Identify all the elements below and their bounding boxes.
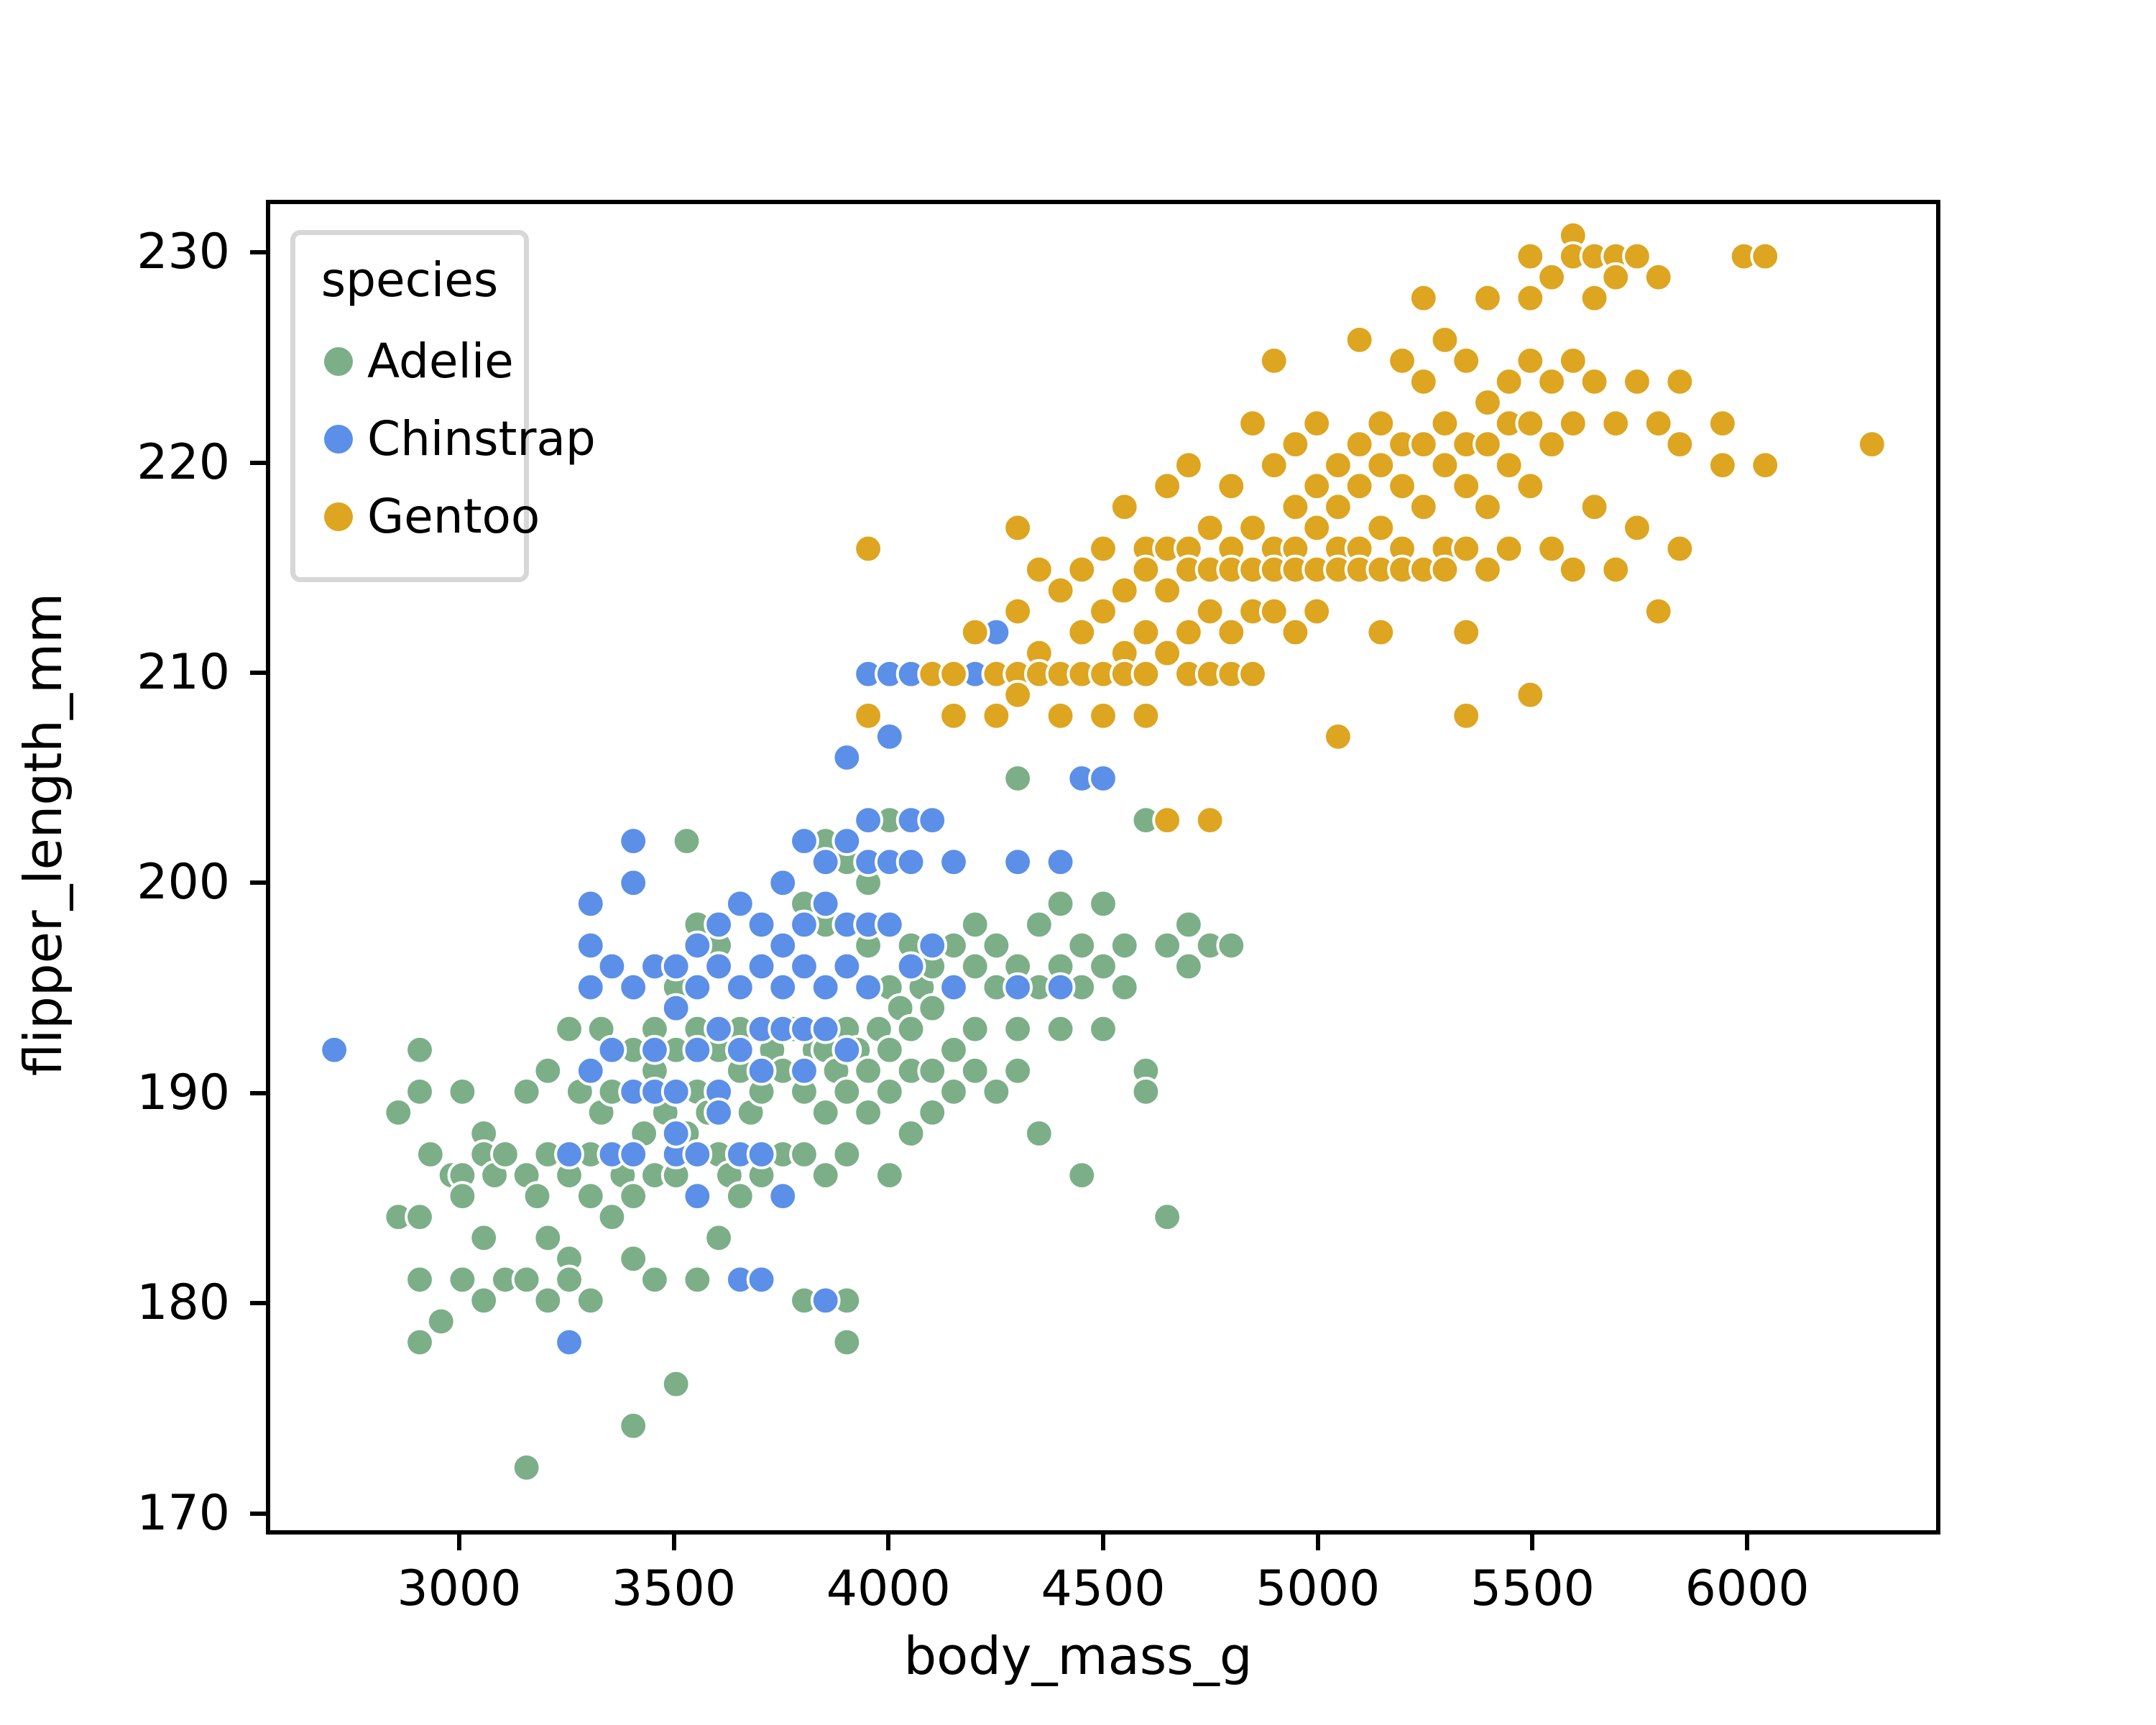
x-tick-label: 6000 bbox=[1685, 1565, 1810, 1614]
y-tick-mark bbox=[250, 671, 266, 675]
legend-label-gentoo: Gentoo bbox=[353, 493, 540, 540]
y-tick-mark bbox=[250, 880, 266, 885]
x-tick-mark bbox=[1745, 1535, 1749, 1550]
legend-item-adelie[interactable]: Adelie bbox=[314, 323, 505, 400]
x-tick-mark bbox=[1530, 1535, 1534, 1550]
y-tick-mark bbox=[250, 1512, 266, 1516]
legend-swatch-adelie bbox=[324, 347, 353, 376]
x-axis-label: body_mass_g bbox=[0, 1630, 2156, 1682]
x-tick-mark bbox=[1316, 1535, 1320, 1550]
legend-title: species bbox=[314, 257, 505, 304]
legend-label-chinstrap: Chinstrap bbox=[353, 415, 596, 463]
x-tick-label: 3500 bbox=[612, 1565, 736, 1614]
y-tick-mark bbox=[250, 1301, 266, 1305]
x-tick-label: 4000 bbox=[826, 1565, 951, 1614]
legend-item-chinstrap[interactable]: Chinstrap bbox=[314, 400, 505, 478]
x-tick-mark bbox=[1101, 1535, 1105, 1550]
y-tick-mark bbox=[250, 1091, 266, 1095]
x-tick-label: 5500 bbox=[1470, 1565, 1595, 1614]
legend: species Adelie Chinstrap Gentoo bbox=[290, 230, 529, 582]
x-tick-mark bbox=[886, 1535, 890, 1550]
legend-swatch-gentoo bbox=[324, 502, 353, 531]
y-axis-label: flipper_length_mm bbox=[17, 173, 69, 1496]
y-tick-label: 170 bbox=[29, 1489, 230, 1538]
legend-item-gentoo[interactable]: Gentoo bbox=[314, 478, 505, 556]
legend-label-adelie: Adelie bbox=[353, 338, 514, 385]
scatter-plot-figure: 3000350040004500500055006000 17018019020… bbox=[0, 0, 2156, 1725]
y-tick-mark bbox=[250, 461, 266, 465]
x-tick-mark bbox=[457, 1535, 461, 1550]
x-tick-label: 3000 bbox=[397, 1565, 521, 1614]
x-tick-label: 5000 bbox=[1256, 1565, 1380, 1614]
y-tick-mark bbox=[250, 250, 266, 254]
x-tick-label: 4500 bbox=[1041, 1565, 1165, 1614]
legend-swatch-chinstrap bbox=[324, 425, 353, 454]
x-tick-mark bbox=[672, 1535, 676, 1550]
